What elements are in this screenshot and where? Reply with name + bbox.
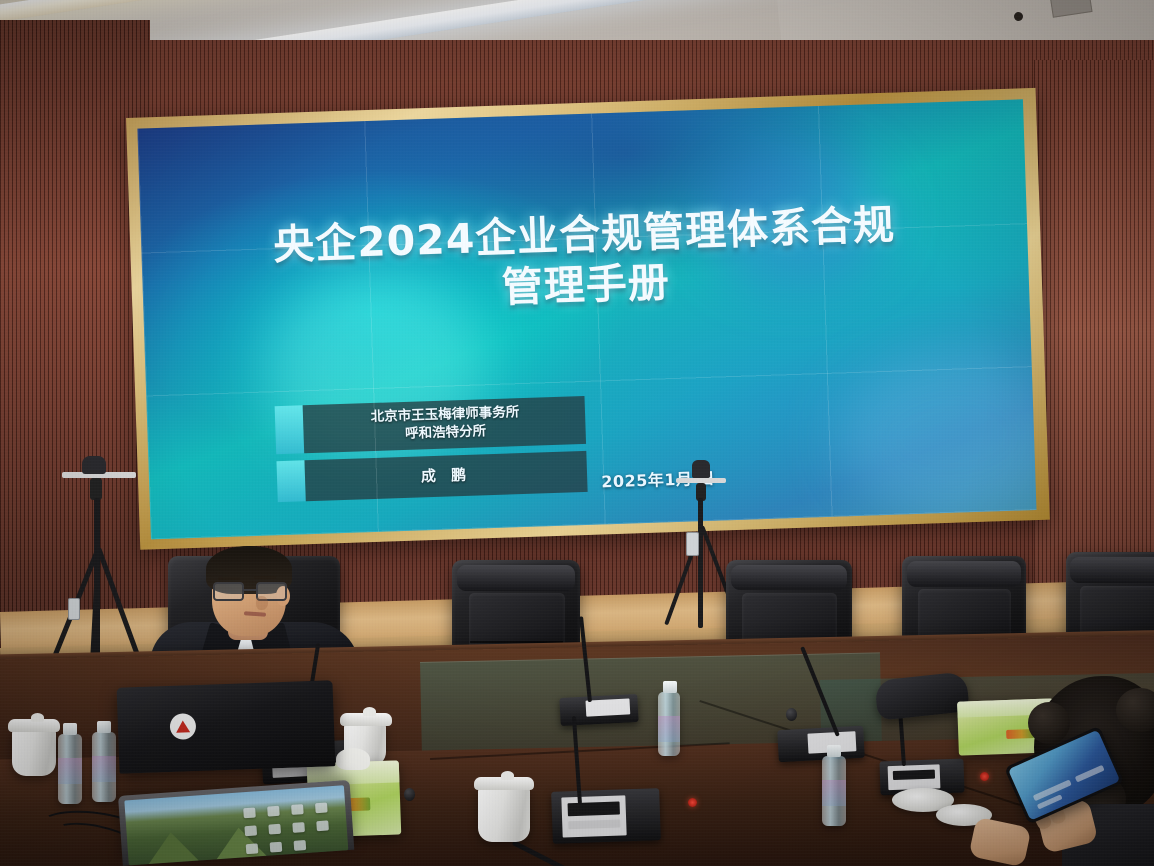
microphone-base-center-near[interactable] (551, 788, 661, 844)
desktop-icon-5[interactable] (244, 825, 257, 836)
wallpaper-mountain-1 (147, 831, 199, 864)
presenter-eyeglasses (213, 582, 289, 601)
tissue-sheet-center (336, 748, 370, 770)
led-video-wall[interactable]: 央企2024企业合规管理体系合规 管理手册 北京市王玉梅律师事务所 呼和浩特分所… (137, 99, 1036, 539)
attendee-hair-curl-1 (1028, 702, 1070, 744)
attendee-person (1016, 676, 1154, 866)
water-bottle-4[interactable] (658, 692, 680, 756)
tripod-head-left (90, 478, 102, 500)
tea-cup-front[interactable] (478, 786, 530, 842)
water-bottle-label-5 (822, 780, 846, 806)
presenter-laptop[interactable] (117, 680, 336, 773)
water-bottle-1[interactable] (58, 734, 82, 804)
presenter-nose (256, 596, 268, 610)
wallpaper-mountain-2 (215, 826, 267, 859)
microphone-capsule-right (786, 708, 797, 721)
microphone-base-right[interactable] (777, 726, 865, 762)
chair-headrest-1 (457, 565, 575, 591)
water-bottle-label-2 (92, 756, 116, 782)
desktop-icon-7[interactable] (292, 822, 305, 833)
desktop-icon-10[interactable] (270, 842, 283, 853)
slide-org-accent-tab (275, 405, 305, 454)
laptop-logo-triangle (176, 720, 190, 732)
water-bottle-5[interactable] (822, 756, 846, 826)
eyeglass-bridge (244, 589, 256, 591)
slide-presenter-name: 成 鹏 (304, 451, 587, 502)
microphone-indicator-far-right (980, 772, 989, 781)
tripod-camera-left (82, 456, 106, 474)
desktop-icon-6[interactable] (268, 824, 281, 835)
microphone-display-center-near (568, 802, 620, 817)
slide-presenter-card: 北京市王玉梅律师事务所 呼和浩特分所 成 鹏 (275, 396, 588, 510)
tripod-control-box-left (68, 598, 80, 620)
desktop-icon-9[interactable] (246, 843, 259, 854)
slide-presenter-row: 成 鹏 (276, 451, 587, 503)
presenter-eyebrow-left (218, 577, 240, 580)
chair-headrest-2 (731, 565, 847, 590)
slide-org-text: 北京市王玉梅律师事务所 呼和浩特分所 (303, 396, 586, 453)
slide-presenter-accent-tab (276, 460, 305, 503)
tea-cup-knob-left (31, 713, 44, 722)
ceiling-speaker-dot (1014, 12, 1023, 21)
chair-headrest-3 (907, 561, 1021, 587)
microphone-panel-center-far (585, 698, 630, 716)
laptop-brand-logo (170, 713, 197, 740)
desktop-icon-4[interactable] (315, 802, 328, 813)
slide-org-row: 北京市王玉梅律师事务所 呼和浩特分所 (275, 396, 586, 454)
desktop-icon-2[interactable] (267, 806, 280, 817)
desktop-icon-3[interactable] (291, 804, 304, 815)
tea-cup-knob-center (363, 707, 376, 716)
chair-headrest-4 (1070, 557, 1154, 583)
water-bottle-label-1 (58, 758, 82, 784)
microphone-display-far-right (893, 770, 935, 780)
tripod-center-column-center (698, 498, 703, 628)
desktop-icon-8[interactable] (316, 820, 329, 831)
presenter-eyebrow-right (254, 576, 276, 579)
tripod-control-box-center (686, 532, 699, 556)
tea-cup-left[interactable] (12, 728, 56, 776)
water-bottle-label-4 (658, 716, 680, 742)
desktop-icon-1[interactable] (243, 807, 256, 818)
screen-glow-right (835, 348, 1036, 526)
microphone-indicator-center-near (688, 798, 697, 807)
microphone-capsule-presenter (404, 788, 415, 801)
eyeglass-lens-left (213, 582, 244, 601)
conference-room-photo: 央企2024企业合规管理体系合规 管理手册 北京市王玉梅律师事务所 呼和浩特分所… (0, 0, 1154, 866)
tripod-camera-center (692, 460, 710, 478)
desktop-icon-11[interactable] (294, 840, 307, 851)
led-screen-frame: 央企2024企业合规管理体系合规 管理手册 北京市王玉梅律师事务所 呼和浩特分所… (126, 88, 1050, 550)
phone-ui-chip-3 (1075, 765, 1105, 783)
water-bottle-2[interactable] (92, 732, 116, 802)
tea-cup-knob-front (501, 771, 514, 780)
slide-title: 央企2024企业合规管理体系合规 管理手册 (141, 195, 1030, 324)
